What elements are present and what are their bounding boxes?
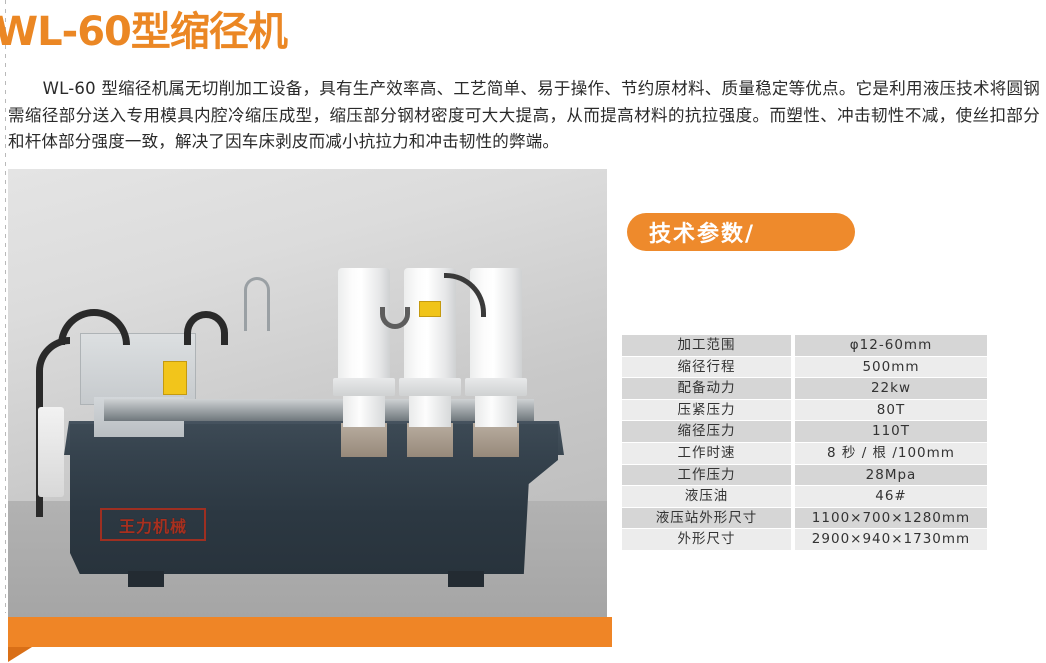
spec-row: 液压站外形尺寸1100×700×1280mm xyxy=(622,508,987,529)
machine-die-3 xyxy=(473,423,519,457)
machine-side-tank xyxy=(38,407,64,497)
spec-row-value: 1100×700×1280mm xyxy=(795,508,987,529)
machine-rail xyxy=(104,399,534,421)
machine-foot-right xyxy=(448,571,484,587)
spec-row-value: φ12-60mm xyxy=(795,335,987,356)
spec-row-key: 外形尺寸 xyxy=(622,529,791,550)
spec-table-body: 加工范围φ12-60mm缩径行程500mm配备动力22kw压紧压力80T缩径压力… xyxy=(622,335,987,550)
machine-die-2 xyxy=(407,423,453,457)
intro-text: WL-60 型缩径机属无切削加工设备，具有生产效率高、工艺简单、易于操作、节约原… xyxy=(8,76,1040,156)
machine-cylinder-1 xyxy=(338,268,390,380)
spec-row-key: 工作时速 xyxy=(622,443,791,464)
spec-table: 加工范围φ12-60mm缩径行程500mm配备动力22kw压紧压力80T缩径压力… xyxy=(622,334,987,551)
spec-row: 配备动力22kw xyxy=(622,378,987,399)
spec-row-key: 缩径行程 xyxy=(622,357,791,378)
machine-warning-label-left xyxy=(163,361,187,395)
spec-row-key: 缩径压力 xyxy=(622,421,791,442)
spec-row: 液压油46# xyxy=(622,486,987,507)
spec-row-value: 2900×940×1730mm xyxy=(795,529,987,550)
spec-row: 外形尺寸2900×940×1730mm xyxy=(622,529,987,550)
tech-params-label: 技术参数/ xyxy=(649,216,755,248)
spec-row: 压紧压力80T xyxy=(622,400,987,421)
spec-row-value: 80T xyxy=(795,400,987,421)
page-title: WL-60型缩径机 xyxy=(0,12,287,52)
spec-row-value: 500mm xyxy=(795,357,987,378)
machine-brand-logo: 王力机械 xyxy=(100,508,206,541)
spec-row-key: 工作压力 xyxy=(622,465,791,486)
product-photo: 王力机械 xyxy=(8,169,607,617)
spec-row: 加工范围φ12-60mm xyxy=(622,335,987,356)
spec-row: 缩径行程500mm xyxy=(622,357,987,378)
spec-row: 工作时速8 秒 / 根 /100mm xyxy=(622,443,987,464)
machine-warning-label-center xyxy=(419,301,441,317)
spec-row-key: 液压站外形尺寸 xyxy=(622,508,791,529)
intro-paragraph: WL-60 型缩径机属无切削加工设备，具有生产效率高、工艺简单、易于操作、节约原… xyxy=(8,76,1040,156)
left-dashed-guide xyxy=(5,0,6,613)
spec-row-key: 液压油 xyxy=(622,486,791,507)
machine-die-1 xyxy=(341,423,387,457)
spec-row-value: 110T xyxy=(795,421,987,442)
spec-row-value: 22kw xyxy=(795,378,987,399)
ribbon-fold-corner xyxy=(8,647,32,662)
spec-row: 工作压力28Mpa xyxy=(622,465,987,486)
page-root: WL-60型缩径机 WL-60 型缩径机属无切削加工设备，具有生产效率高、工艺简… xyxy=(0,0,1046,663)
spec-row: 缩径压力110T xyxy=(622,421,987,442)
spec-row-key: 配备动力 xyxy=(622,378,791,399)
tech-params-banner: 技术参数/ xyxy=(627,213,855,251)
machine-foot-left xyxy=(128,571,164,587)
spec-row-value: 8 秒 / 根 /100mm xyxy=(795,443,987,464)
spec-row-value: 46# xyxy=(795,486,987,507)
machine-cylinder-3 xyxy=(470,268,522,380)
bottom-orange-ribbon xyxy=(8,617,612,647)
spec-row-key: 压紧压力 xyxy=(622,400,791,421)
spec-row-value: 28Mpa xyxy=(795,465,987,486)
machine-wire-loop xyxy=(244,277,270,331)
spec-row-key: 加工范围 xyxy=(622,335,791,356)
